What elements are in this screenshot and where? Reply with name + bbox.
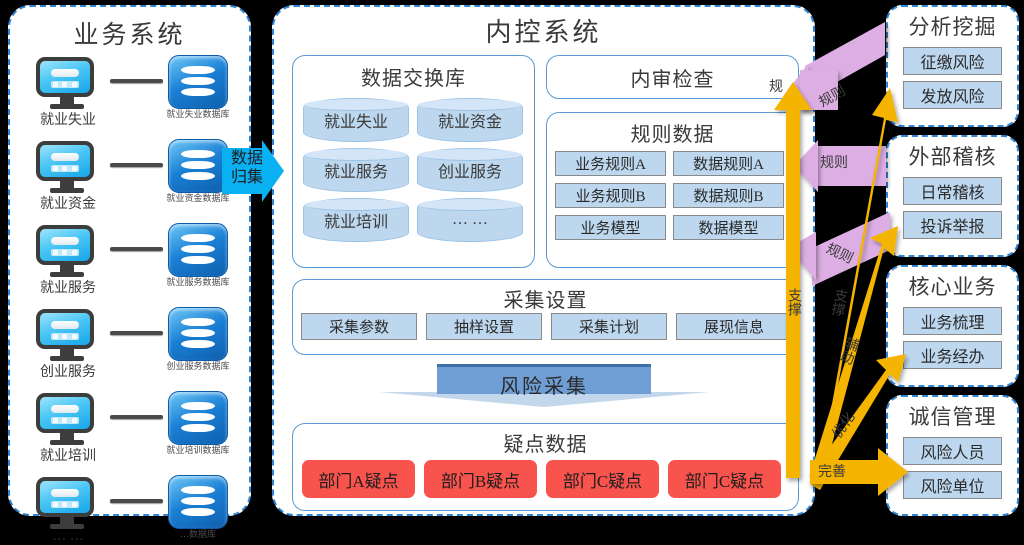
- business-system-label: 就业资金: [20, 193, 116, 213]
- monitor-icon: [36, 393, 98, 441]
- pink-arrow-band-1: [805, 22, 885, 100]
- cylinder-item[interactable]: 就业资金: [417, 98, 523, 142]
- risk-collection-banner: 风险采集: [379, 364, 709, 407]
- cylinder-item[interactable]: 就业服务: [303, 148, 409, 192]
- core-business-chip[interactable]: 业务梳理: [903, 307, 1002, 335]
- rule-chip[interactable]: 数据模型: [673, 215, 784, 240]
- rule-chip[interactable]: 业务规则A: [555, 151, 666, 176]
- analysis-mining-chip[interactable]: 征缴风险: [903, 47, 1002, 75]
- pink-arrow-band-3: [812, 212, 890, 286]
- analysis-mining-chip[interactable]: 发放风险: [903, 81, 1002, 109]
- yellow-arrow-assist: [810, 226, 898, 482]
- external-audit-chip[interactable]: 投诉举报: [903, 211, 1002, 239]
- rule-chip[interactable]: 数据规则B: [673, 183, 784, 208]
- doubt-chip[interactable]: 部门C疑点: [668, 460, 781, 498]
- rule-data-title: 规则数据: [547, 118, 798, 147]
- database-icon: [168, 223, 228, 277]
- business-system-row: … … …数据库: [10, 475, 249, 543]
- database-label: 就业服务数据库: [150, 275, 246, 288]
- cylinder-item[interactable]: … …: [417, 198, 523, 242]
- internal-control-system-panel: 内控系统 数据交换库 就业失业 就业资金 就业服务 创业服务 就业培训 … … …: [272, 5, 815, 516]
- external-audit-chip[interactable]: 日常稽核: [903, 177, 1002, 205]
- core-business-chip[interactable]: 业务经办: [903, 341, 1002, 369]
- integrity-management-chip[interactable]: 风险人员: [903, 437, 1002, 465]
- yellow-arrow-support-2: [808, 88, 898, 476]
- rule-chip[interactable]: 业务模型: [555, 215, 666, 240]
- data-aggregation-arrow: 数据 归集: [222, 140, 284, 202]
- internal-audit-title: 内审检查: [631, 63, 715, 92]
- database-label: 就业培训数据库: [150, 443, 246, 456]
- analysis-mining-panel: 分析挖掘 征缴风险 发放风险: [886, 5, 1019, 127]
- monitor-icon: [36, 225, 98, 273]
- core-business-title: 核心业务: [888, 271, 1017, 301]
- cylinder-item[interactable]: 就业培训: [303, 198, 409, 242]
- pink-arrow-band-2: [816, 146, 886, 186]
- business-system-label: 就业培训: [20, 445, 116, 465]
- collection-settings-box: 采集设置 采集参数 抽样设置 采集计划 展现信息: [292, 279, 799, 355]
- yellow-arrow-label-improve: 完善: [818, 461, 846, 481]
- rule-chip[interactable]: 业务规则B: [555, 183, 666, 208]
- connector-line: [110, 247, 163, 251]
- business-system-row: 创业服务 创业服务数据库: [10, 307, 249, 375]
- database-icon: [168, 391, 228, 445]
- business-system-label: 创业服务: [20, 361, 116, 381]
- internal-audit-box[interactable]: 内审检查: [546, 55, 799, 99]
- rule-chip[interactable]: 数据规则A: [673, 151, 784, 176]
- collection-chip[interactable]: 展现信息: [676, 313, 792, 340]
- external-audit-title: 外部稽核: [888, 141, 1017, 171]
- cylinder-item[interactable]: 创业服务: [417, 148, 523, 192]
- business-system-row: 就业资金 就业资金数据库: [10, 139, 249, 207]
- risk-collection-label: 风险采集: [379, 370, 709, 399]
- collection-chip[interactable]: 抽样设置: [426, 313, 542, 340]
- data-exchange-cylinder-grid: 就业失业 就业资金 就业服务 创业服务 就业培训 … …: [303, 98, 527, 242]
- rule-data-box: 规则数据 业务规则A 数据规则A 业务规则B 数据规则B 业务模型 数据模型: [546, 112, 799, 268]
- doubt-chip[interactable]: 部门C疑点: [546, 460, 659, 498]
- business-system-row: 就业服务 就业服务数据库: [10, 223, 249, 291]
- monitor-icon: [36, 309, 98, 357]
- business-system-label: 就业失业: [20, 109, 116, 129]
- data-exchange-title: 数据交换库: [293, 62, 534, 91]
- business-system-label: … …: [20, 529, 116, 545]
- monitor-icon: [36, 141, 98, 189]
- doubt-data-box: 疑点数据 部门A疑点 部门B疑点 部门C疑点 部门C疑点: [292, 423, 799, 511]
- database-icon: [168, 307, 228, 361]
- yellow-arrow-label-support-2: 支撑: [826, 286, 851, 317]
- yellow-arrow-label-optimize: 优化: [827, 408, 859, 442]
- database-label: 就业失业数据库: [150, 107, 246, 120]
- database-icon: [168, 139, 228, 193]
- yellow-arrow-label-assist: 辅助: [834, 334, 862, 367]
- integrity-management-chip[interactable]: 风险单位: [903, 471, 1002, 499]
- monitor-icon: [36, 57, 98, 105]
- integrity-management-title: 诚信管理: [888, 401, 1017, 431]
- collection-settings-title: 采集设置: [293, 284, 798, 313]
- doubt-data-title: 疑点数据: [293, 428, 798, 457]
- business-system-row: 就业失业 就业失业数据库: [10, 55, 249, 123]
- doubt-chip[interactable]: 部门A疑点: [302, 460, 415, 498]
- cylinder-item[interactable]: 就业失业: [303, 98, 409, 142]
- business-systems-title: 业务系统: [10, 15, 249, 51]
- monitor-icon: [36, 477, 98, 525]
- integrity-management-panel: 诚信管理 风险人员 风险单位: [886, 395, 1019, 516]
- rule-chip-grid: 业务规则A 数据规则A 业务规则B 数据规则B 业务模型 数据模型: [555, 151, 792, 240]
- collection-chip[interactable]: 采集计划: [551, 313, 667, 340]
- connector-line: [110, 499, 163, 503]
- analysis-mining-title: 分析挖掘: [888, 11, 1017, 41]
- connector-line: [110, 163, 163, 167]
- internal-control-system-title: 内控系统: [274, 12, 813, 49]
- collection-chip-row: 采集参数 抽样设置 采集计划 展现信息: [301, 313, 792, 340]
- business-systems-panel: 业务系统 就业失业 就业失业数据库 就业资金 就业资金数据库 就业服务 就业服务…: [8, 5, 251, 516]
- business-system-row: 就业培训 就业培训数据库: [10, 391, 249, 459]
- data-aggregation-label: 数据 归集: [226, 149, 268, 187]
- collection-chip[interactable]: 采集参数: [301, 313, 417, 340]
- database-label: 创业服务数据库: [150, 359, 246, 372]
- doubt-chip-row: 部门A疑点 部门B疑点 部门C疑点 部门C疑点: [302, 460, 791, 498]
- database-icon: [168, 55, 228, 109]
- doubt-chip[interactable]: 部门B疑点: [424, 460, 537, 498]
- external-audit-panel: 外部稽核 日常稽核 投诉举报: [886, 135, 1019, 257]
- pink-arrow-label-2: 规则: [820, 152, 848, 172]
- pink-arrow-label-1: 规则: [815, 80, 849, 111]
- connector-line: [110, 415, 163, 419]
- data-exchange-box: 数据交换库 就业失业 就业资金 就业服务 创业服务 就业培训 … …: [292, 55, 535, 268]
- connector-line: [110, 79, 163, 83]
- business-system-label: 就业服务: [20, 277, 116, 297]
- pink-arrow-label-3: 规则: [823, 238, 857, 268]
- core-business-panel: 核心业务 业务梳理 业务经办: [886, 265, 1019, 387]
- connector-line: [110, 331, 163, 335]
- database-label: …数据库: [150, 527, 246, 540]
